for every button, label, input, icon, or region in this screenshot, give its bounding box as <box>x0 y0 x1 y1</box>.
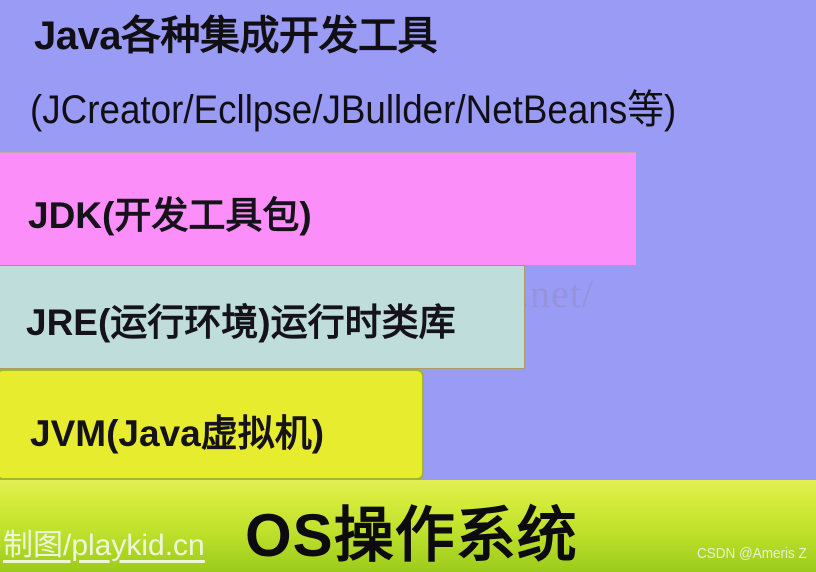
layer-jvm: JVM(Java虚拟机) <box>0 369 424 480</box>
layer-jdk: JDK(开发工具包) <box>0 152 636 265</box>
os-layer-label: OS操作系统 <box>245 487 578 572</box>
ide-layer-title: Java各种集成开发工具 <box>34 12 437 60</box>
jre-layer-label: JRE(运行环境)运行时类库 <box>26 292 456 346</box>
diagram-canvas: Java各种集成开发工具 (JCreator/Ecllpse/JBullder/… <box>0 0 816 572</box>
author-credit-watermark: 制图/playkid.cn <box>3 520 205 564</box>
jdk-layer-label: JDK(开发工具包) <box>28 185 312 239</box>
csdn-credit-watermark: CSDN @Ameris Z <box>697 545 807 562</box>
layer-ide: Java各种集成开发工具 (JCreator/Ecllpse/JBullder/… <box>0 0 816 152</box>
layer-jre: JRE(运行环境)运行时类库 <box>0 265 525 369</box>
ide-layer-subtitle: (JCreator/Ecllpse/JBullder/NetBeans等) <box>30 86 676 134</box>
jvm-layer-label: JVM(Java虚拟机) <box>30 403 324 457</box>
